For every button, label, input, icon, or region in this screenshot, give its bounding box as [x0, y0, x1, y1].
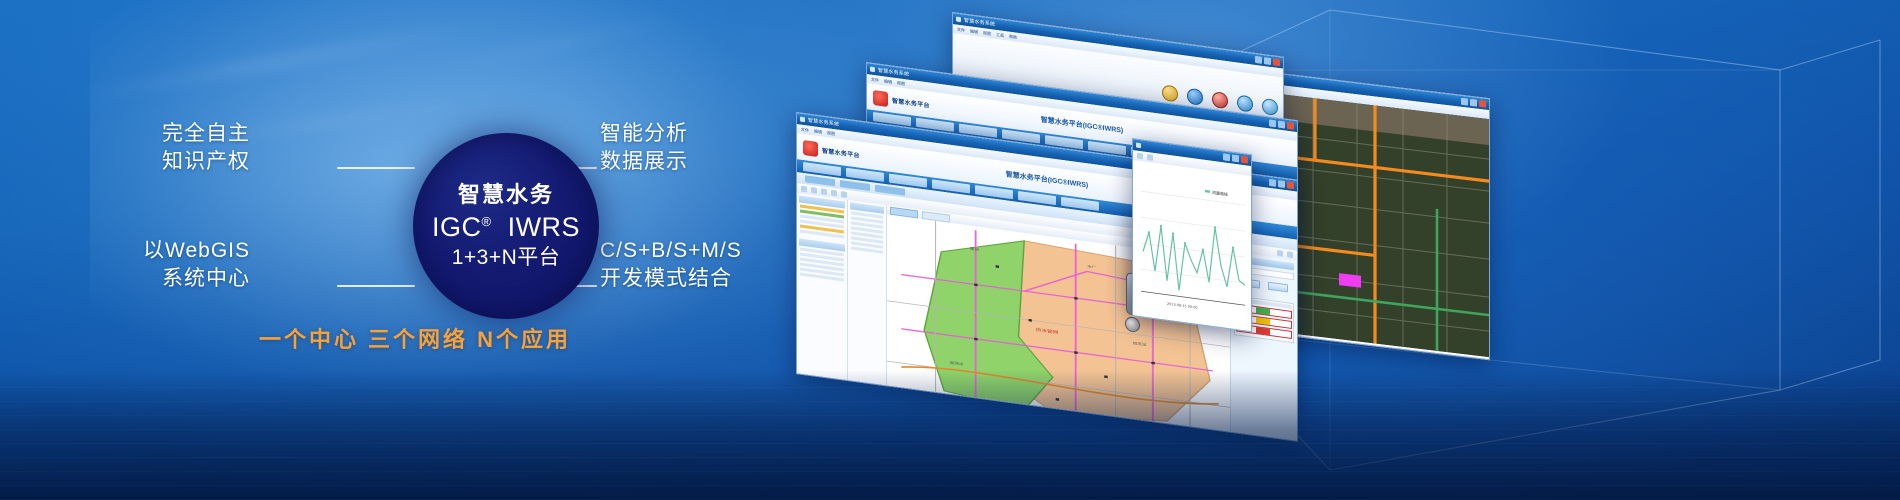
registered-trademark-icon: ®	[481, 214, 491, 229]
badge-product-iwrs: IWRS	[508, 212, 581, 242]
menu-item[interactable]: 编辑	[884, 78, 892, 85]
toolbar-icon-select[interactable]	[831, 190, 837, 197]
ribbon-big-icon[interactable]	[1187, 88, 1203, 106]
reset-button[interactable]	[1268, 282, 1288, 293]
floor-grid	[0, 380, 1900, 500]
toolbar-icon-layers[interactable]	[1277, 250, 1283, 257]
toolbar-icon-refresh[interactable]	[1137, 153, 1143, 160]
feature-label-top-right: 智能分析 数据展示	[600, 120, 688, 175]
menu-item[interactable]: 文件	[871, 76, 879, 83]
app-window-flow-chart[interactable]: 流量曲线 2013-08-15 00:00	[1132, 138, 1252, 332]
toolbar-icon-measure[interactable]	[841, 191, 847, 198]
toolbar-icon-export[interactable]	[1147, 154, 1153, 161]
menu-item[interactable]: 编辑	[970, 28, 978, 35]
window-icon	[1136, 143, 1141, 149]
feature-line-1: 以WebGIS	[143, 237, 250, 265]
flow-chart: 流量曲线 2013-08-15 00:00	[1133, 160, 1251, 328]
feature-line-2: 系统中心	[143, 265, 250, 293]
toolbar-icon[interactable]	[958, 37, 1004, 60]
feature-label-top-left: 完全自主 知识产权	[162, 120, 250, 175]
menu-item[interactable]: 工具	[996, 31, 1004, 38]
feature-line-2: 开发模式结合	[600, 265, 742, 293]
feature-line-1: C/S+B/S+M/S	[600, 237, 742, 265]
ribbon-big-icon[interactable]	[1262, 98, 1278, 116]
window-icon	[956, 17, 961, 23]
compass-icon[interactable]	[1125, 316, 1140, 333]
menu-item[interactable]: 视图	[897, 80, 905, 87]
toolbar-icon-print[interactable]	[1287, 251, 1293, 258]
feature-line-1: 智能分析	[600, 120, 688, 148]
connector-line-top-left	[337, 167, 415, 169]
toolbar-icon[interactable]	[1007, 43, 1053, 66]
badge-product-name: IGC® IWRS	[432, 213, 580, 241]
window-icon	[870, 67, 875, 73]
feature-line-2: 知识产权	[162, 148, 250, 176]
feature-line-2: 数据展示	[600, 148, 688, 176]
banner-stage: 智慧水务系统 文件 编辑 视图 工具	[0, 0, 1900, 500]
menu-item[interactable]: 视图	[983, 30, 991, 37]
ribbon-big-icon[interactable]	[1162, 84, 1178, 102]
ribbon-big-icon[interactable]	[1237, 94, 1253, 112]
banner-tagline: 一个中心 三个网络 N个应用	[0, 322, 830, 354]
badge-chinese-title: 智慧水务	[458, 183, 554, 206]
feature-line-1: 完全自主	[162, 120, 250, 148]
badge-platform: 1+3+N平台	[452, 247, 561, 269]
toolbar-icon[interactable]	[1057, 50, 1103, 73]
toolbar-icon[interactable]	[1106, 57, 1152, 80]
ribbon-big-icon[interactable]	[1212, 91, 1228, 109]
feature-list-panel[interactable]	[848, 200, 887, 395]
menu-item[interactable]: 文件	[957, 26, 965, 33]
connector-line-bottom-left	[337, 285, 415, 287]
badge-product-igc: IGC	[432, 212, 482, 242]
flow-chart-svg: 流量曲线 2013-08-15 00:00	[1133, 160, 1251, 328]
feature-label-bottom-left: 以WebGIS 系统中心	[143, 237, 250, 292]
menu-item[interactable]: 帮助	[1009, 33, 1017, 40]
feature-label-bottom-right: C/S+B/S+M/S 开发模式结合	[600, 237, 742, 292]
center-badge: 智慧水务 IGC® IWRS 1+3+N平台	[413, 133, 599, 319]
